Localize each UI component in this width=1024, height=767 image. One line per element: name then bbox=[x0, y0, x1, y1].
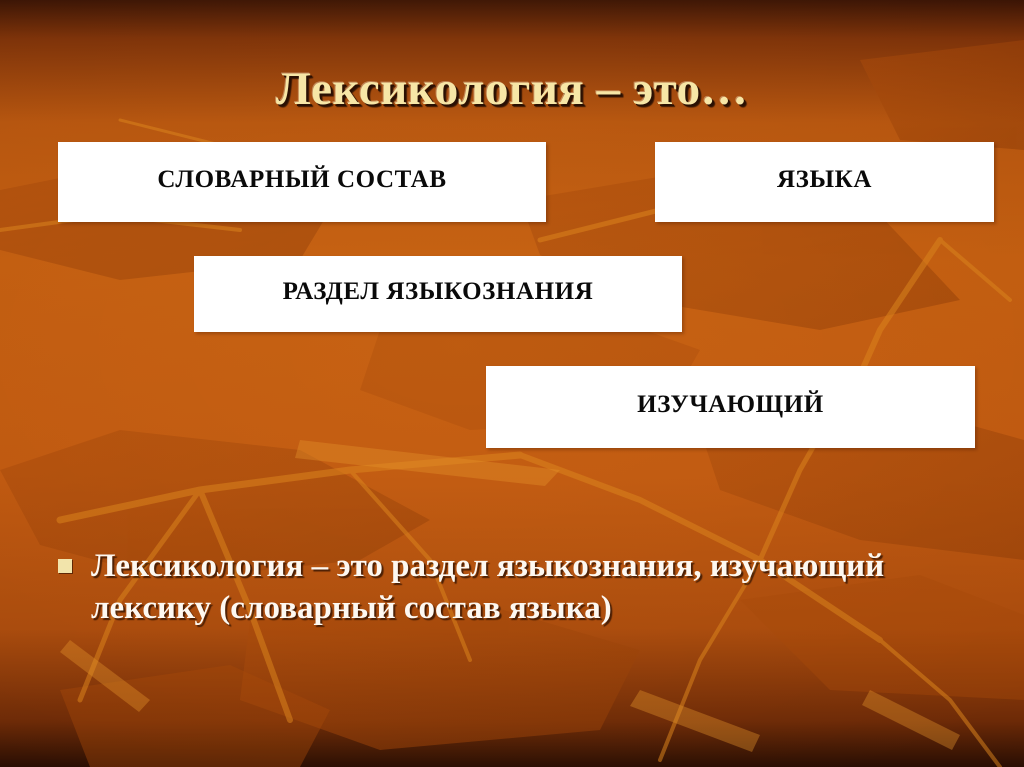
definition-box-branch: РАЗДЕЛ ЯЗЫКОЗНАНИЯ bbox=[194, 256, 682, 332]
square-bullet-icon bbox=[58, 559, 72, 573]
definition-box-label: РАЗДЕЛ ЯЗЫКОЗНАНИЯ bbox=[283, 279, 594, 304]
definition-box-label: СЛОВАРНЫЙ СОСТАВ bbox=[157, 167, 446, 192]
summary-bullet-item: Лексикология – это раздел языкознания, и… bbox=[58, 546, 958, 629]
summary-bullet-text: Лексикология – это раздел языкознания, и… bbox=[91, 546, 931, 629]
page-title: Лексикология – это… bbox=[0, 62, 1024, 116]
definition-box-studying: ИЗУЧАЮЩИЙ bbox=[486, 366, 975, 448]
definition-box-language: ЯЗЫКА bbox=[655, 142, 994, 222]
definition-box-vocabulary: СЛОВАРНЫЙ СОСТАВ bbox=[58, 142, 546, 222]
definition-box-label: ИЗУЧАЮЩИЙ bbox=[637, 392, 824, 417]
slide-canvas: Лексикология – это… СЛОВАРНЫЙ СОСТАВ ЯЗЫ… bbox=[0, 0, 1024, 767]
definition-box-label: ЯЗЫКА bbox=[777, 167, 872, 192]
